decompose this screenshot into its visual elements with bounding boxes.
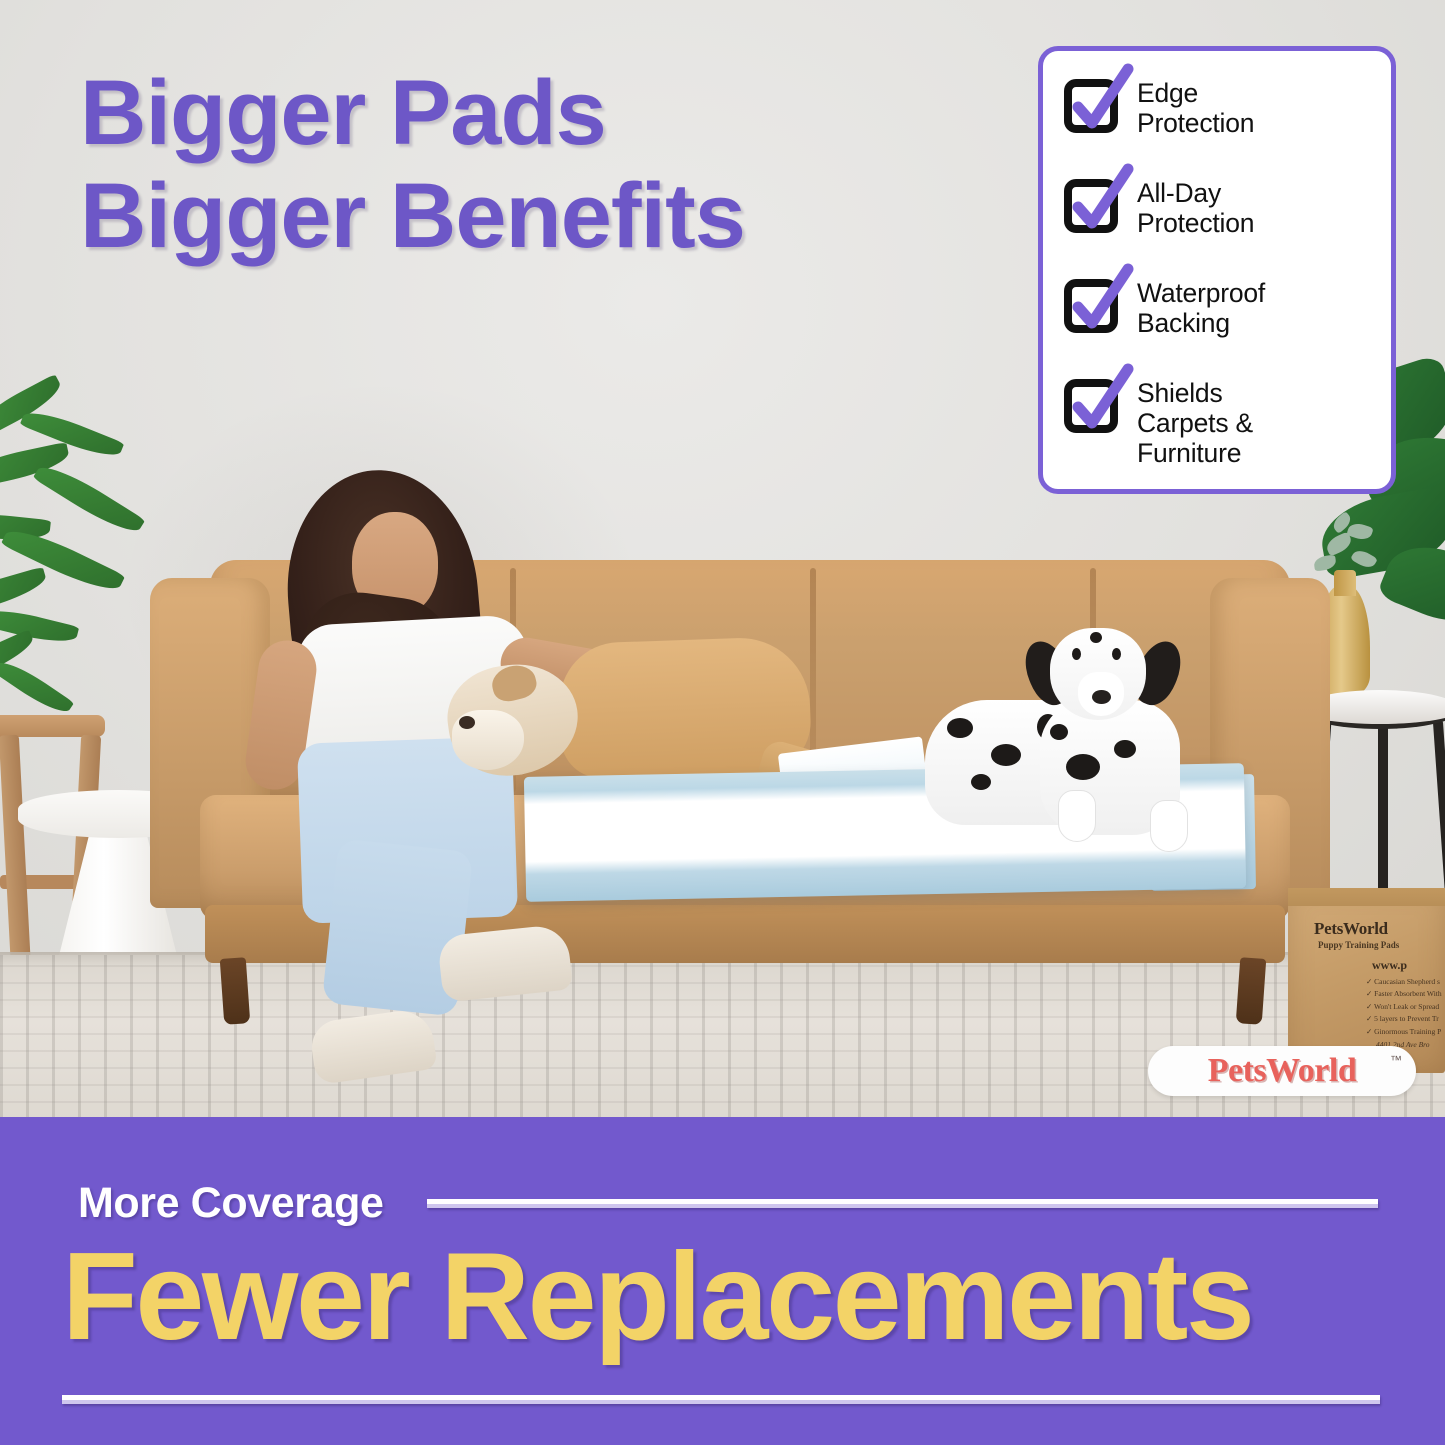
feature-item-shields-carpets-furniture: Shields Carpets & Furniture bbox=[1065, 377, 1371, 469]
more-coverage-text: More Coverage bbox=[78, 1179, 383, 1228]
bottom-banner: More Coverage Fewer Replacements bbox=[0, 1117, 1445, 1445]
feature-item-all-day-protection: All-Day Protection bbox=[1065, 177, 1371, 239]
trademark-symbol: ™ bbox=[1390, 1053, 1402, 1067]
product-box-flap bbox=[1288, 888, 1445, 906]
more-coverage-row: More Coverage bbox=[78, 1179, 1378, 1228]
headline-line-2: Bigger Benefits bbox=[80, 165, 980, 268]
checkbox-check-icon bbox=[1065, 279, 1119, 331]
headline-line-1: Bigger Pads bbox=[80, 62, 980, 165]
feature-item-edge-protection: Edge Protection bbox=[1065, 77, 1371, 139]
feature-checklist-card: Edge Protection All-Day Protection Water… bbox=[1038, 46, 1396, 494]
box-website: www.p bbox=[1372, 958, 1407, 973]
checkbox-check-icon bbox=[1065, 79, 1119, 131]
feature-label: Shields Carpets & Furniture bbox=[1137, 377, 1253, 469]
box-bullet-list: ✓ Caucasian Shepherd s ✓ Faster Absorben… bbox=[1366, 976, 1445, 1038]
feature-label: All-Day Protection bbox=[1137, 177, 1254, 239]
box-logo-text: PetsWorld bbox=[1314, 920, 1434, 937]
banner-divider-rule bbox=[427, 1199, 1378, 1208]
feature-item-waterproof-backing: Waterproof Backing bbox=[1065, 277, 1371, 339]
fewer-replacements-text: Fewer Replacements bbox=[62, 1235, 1392, 1359]
brand-logo: PetsWorld ™ bbox=[1148, 1046, 1416, 1096]
brand-name: PetsWorld bbox=[1208, 1052, 1356, 1090]
box-subtitle: Puppy Training Pads bbox=[1318, 940, 1445, 950]
checkbox-check-icon bbox=[1065, 179, 1119, 231]
checkbox-check-icon bbox=[1065, 379, 1119, 431]
feature-label: Edge Protection bbox=[1137, 77, 1254, 139]
vase-neck bbox=[1334, 570, 1356, 596]
banner-bottom-rule bbox=[62, 1395, 1380, 1404]
feature-label: Waterproof Backing bbox=[1137, 277, 1265, 339]
product-lifestyle-banner: PetsWorld Puppy Training Pads www.p ✓ Ca… bbox=[0, 0, 1445, 1445]
page-title: Bigger Pads Bigger Benefits bbox=[80, 62, 980, 268]
